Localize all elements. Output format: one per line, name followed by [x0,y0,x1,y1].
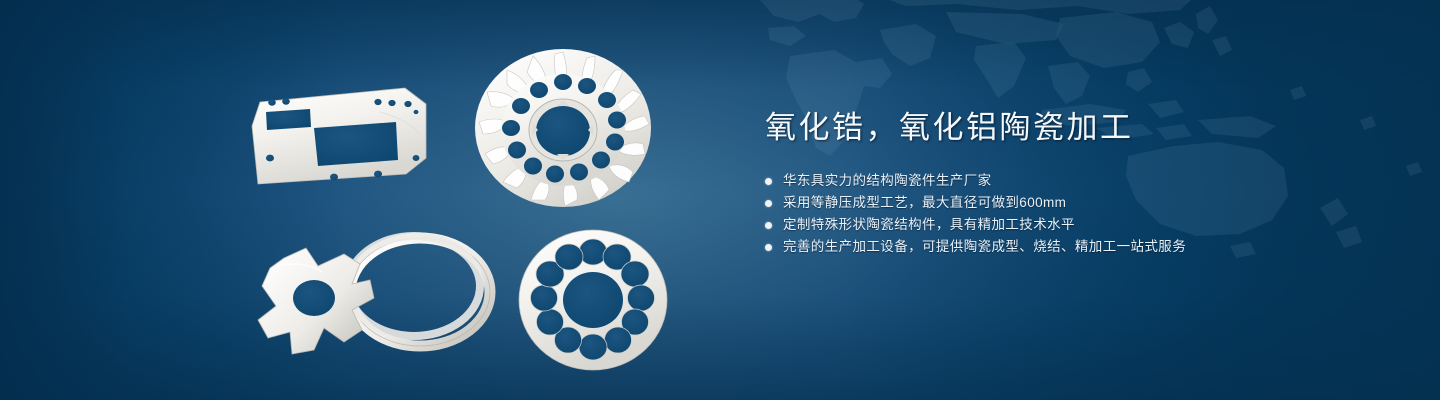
banner-feature-list: 华东具实力的结构陶瓷件生产厂家 采用等静压成型工艺，最大直径可做到600mm 定… [765,170,1385,258]
hero-banner: 氧化锆，氧化铝陶瓷加工 华东具实力的结构陶瓷件生产厂家 采用等静压成型工艺，最大… [0,0,1440,400]
feature-item: 定制特殊形状陶瓷结构件，具有精加工技术水平 [765,214,1385,236]
banner-title: 氧化锆，氧化铝陶瓷加工 [765,108,1385,148]
banner-text-block: 氧化锆，氧化铝陶瓷加工 华东具实力的结构陶瓷件生产厂家 采用等静压成型工艺，最大… [765,108,1385,258]
product-photo-group [230,30,700,380]
ceramic-star-plate [258,248,374,354]
bullet-dot-icon [765,200,772,207]
feature-item-label: 华东具实力的结构陶瓷件生产厂家 [783,170,992,192]
ceramic-perforated-disc [519,230,667,370]
bullet-dot-icon [765,244,772,251]
bullet-dot-icon [765,178,772,185]
ceramic-mounting-plate [252,88,426,184]
feature-item-label: 采用等静压成型工艺，最大直径可做到600mm [783,192,1066,214]
ceramic-impeller-disc [475,49,651,207]
bullet-dot-icon [765,222,772,229]
feature-item: 完善的生产加工设备，可提供陶瓷成型、烧结、精加工一站式服务 [765,236,1385,258]
feature-item: 华东具实力的结构陶瓷件生产厂家 [765,170,1385,192]
feature-item-label: 完善的生产加工设备，可提供陶瓷成型、烧结、精加工一站式服务 [783,236,1186,258]
feature-item: 采用等静压成型工艺，最大直径可做到600mm [765,192,1385,214]
feature-item-label: 定制特殊形状陶瓷结构件，具有精加工技术水平 [783,214,1075,236]
